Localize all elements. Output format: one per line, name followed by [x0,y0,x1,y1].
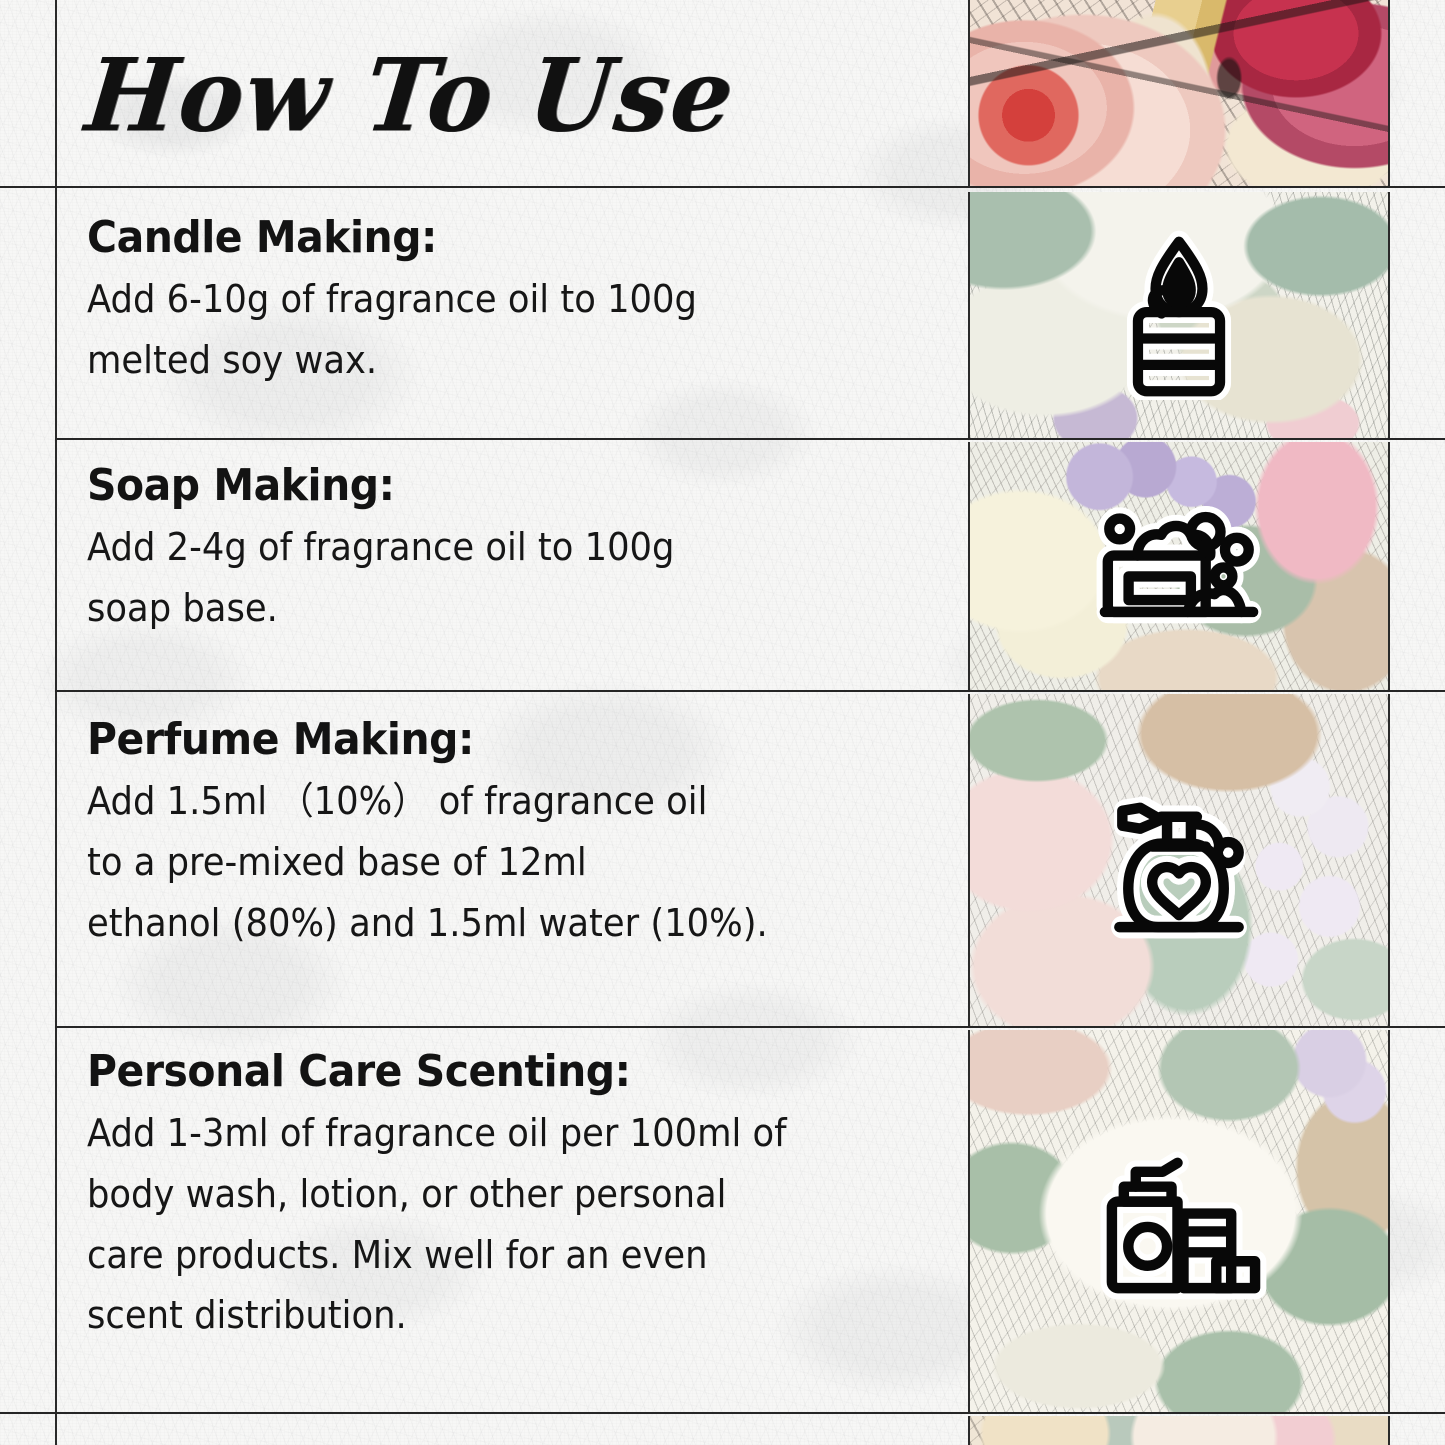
divider-after-personal-care [0,1412,1445,1414]
page-title-area: How To Use [57,0,962,190]
art-panel-perfume [968,694,1390,1026]
body-line: body wash, lotion, or other personal [87,1164,901,1225]
body-line: Add 2-4g of fragrance oil to 100g [87,517,901,578]
section-candle-making: Candle Making: Add 6-10g of fragrance oi… [57,212,962,391]
body-line: soap base. [87,578,901,639]
section-body: Add 2-4g of fragrance oil to 100g soap b… [87,517,901,639]
divider-after-candle [55,438,1445,440]
art-panel-candle [968,192,1390,438]
section-body: Add 6-10g of fragrance oil to 100g melte… [87,269,901,391]
body-line: to a pre-mixed base of 12ml [87,832,901,893]
art-panel-soap [968,442,1390,690]
section-body: Add 1.5ml （10%） of fragrance oil to a pr… [87,771,901,953]
candle-icon [970,192,1388,438]
banner-art-roses [968,0,1390,186]
section-soap-making: Soap Making: Add 2-4g of fragrance oil t… [57,460,962,639]
lotion-bottle-tube-icon [970,1030,1388,1412]
section-perfume-making: Perfume Making: Add 1.5ml （10%） of fragr… [57,714,962,953]
body-line: Add 6-10g of fragrance oil to 100g [87,269,901,330]
section-heading: Personal Care Scenting: [87,1046,901,1097]
divider-after-soap [55,690,1445,692]
section-heading: Soap Making: [87,460,901,511]
body-line: Add 1-3ml of fragrance oil per 100ml of [87,1103,901,1164]
body-line: scent distribution. [87,1285,901,1346]
section-heading: Candle Making: [87,212,901,263]
perfume-atomizer-heart-icon [970,694,1388,1026]
body-line: ethanol (80%) and 1.5ml water (10%). [87,893,901,954]
section-personal-care-scenting: Personal Care Scenting: Add 1-3ml of fra… [57,1046,962,1346]
section-body: Add 1-3ml of fragrance oil per 100ml of … [87,1103,901,1346]
body-line: melted soy wax. [87,330,901,391]
roses-with-quill-illustration [970,0,1388,186]
body-line: care products. Mix well for an even [87,1225,901,1286]
how-to-use-infographic: How To Use Candle Making: Add 6-10g of f… [0,0,1445,1445]
page-title: How To Use [81,36,741,155]
body-line: Add 1.5ml （10%） of fragrance oil [87,771,901,832]
section-heading: Perfume Making: [87,714,901,765]
art-panel-personal-care [968,1030,1390,1412]
banner-art-book-rose [968,1416,1390,1445]
soap-bar-bubbles-icon [970,442,1388,690]
divider-after-perfume [55,1026,1445,1028]
book-and-rose-illustration [970,1416,1388,1445]
